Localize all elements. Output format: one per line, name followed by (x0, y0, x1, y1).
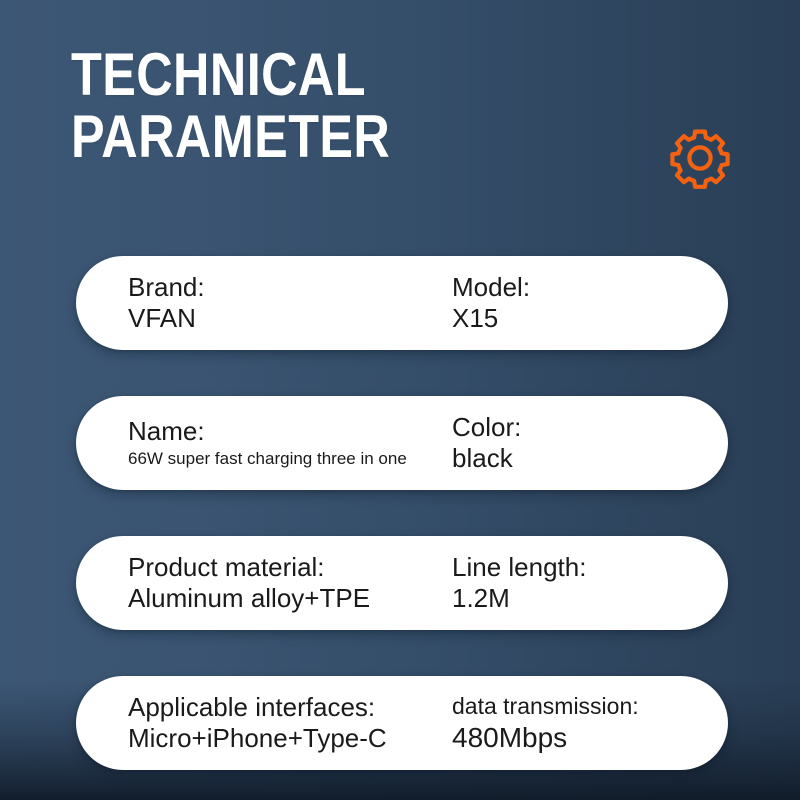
spec-cell-right: data transmission: 480Mbps (438, 692, 728, 754)
spec-value: black (452, 443, 728, 474)
spec-value: Aluminum alloy+TPE (128, 583, 438, 614)
spec-label: Product material: (128, 552, 438, 583)
page-title: TECHNICAL PARAMETER (71, 44, 508, 168)
spec-value: 66W super fast charging three in one (128, 447, 438, 471)
spec-label: Applicable interfaces: (128, 692, 438, 723)
gear-icon (668, 126, 732, 190)
spec-label: Color: (452, 412, 728, 443)
spec-card: Name: 66W super fast charging three in o… (76, 396, 728, 490)
technical-parameter-page: TECHNICAL PARAMETER Brand: VFAN Model: X… (0, 0, 800, 800)
spec-cell-right: Line length: 1.2M (438, 552, 728, 614)
spec-value: VFAN (128, 303, 438, 334)
spec-cell-left: Product material: Aluminum alloy+TPE (76, 552, 438, 614)
spec-cell-right: Color: black (438, 412, 728, 474)
spec-label: Line length: (452, 552, 728, 583)
spec-value: Micro+iPhone+Type-C (128, 723, 438, 754)
spec-card: Applicable interfaces: Micro+iPhone+Type… (76, 676, 728, 770)
spec-cell-left: Name: 66W super fast charging three in o… (76, 416, 438, 471)
spec-label: data transmission: (452, 692, 728, 721)
spec-value: X15 (452, 303, 728, 334)
spec-label: Name: (128, 416, 438, 447)
spec-label: Brand: (128, 272, 438, 303)
spec-cell-left: Applicable interfaces: Micro+iPhone+Type… (76, 692, 438, 754)
spec-value: 1.2M (452, 583, 728, 614)
spec-card: Brand: VFAN Model: X15 (76, 256, 728, 350)
spec-label: Model: (452, 272, 728, 303)
spec-card: Product material: Aluminum alloy+TPE Lin… (76, 536, 728, 630)
spec-cell-left: Brand: VFAN (76, 272, 438, 334)
spec-value: 480Mbps (452, 721, 728, 754)
page-header: TECHNICAL PARAMETER (0, 0, 800, 230)
spec-cell-right: Model: X15 (438, 272, 728, 334)
